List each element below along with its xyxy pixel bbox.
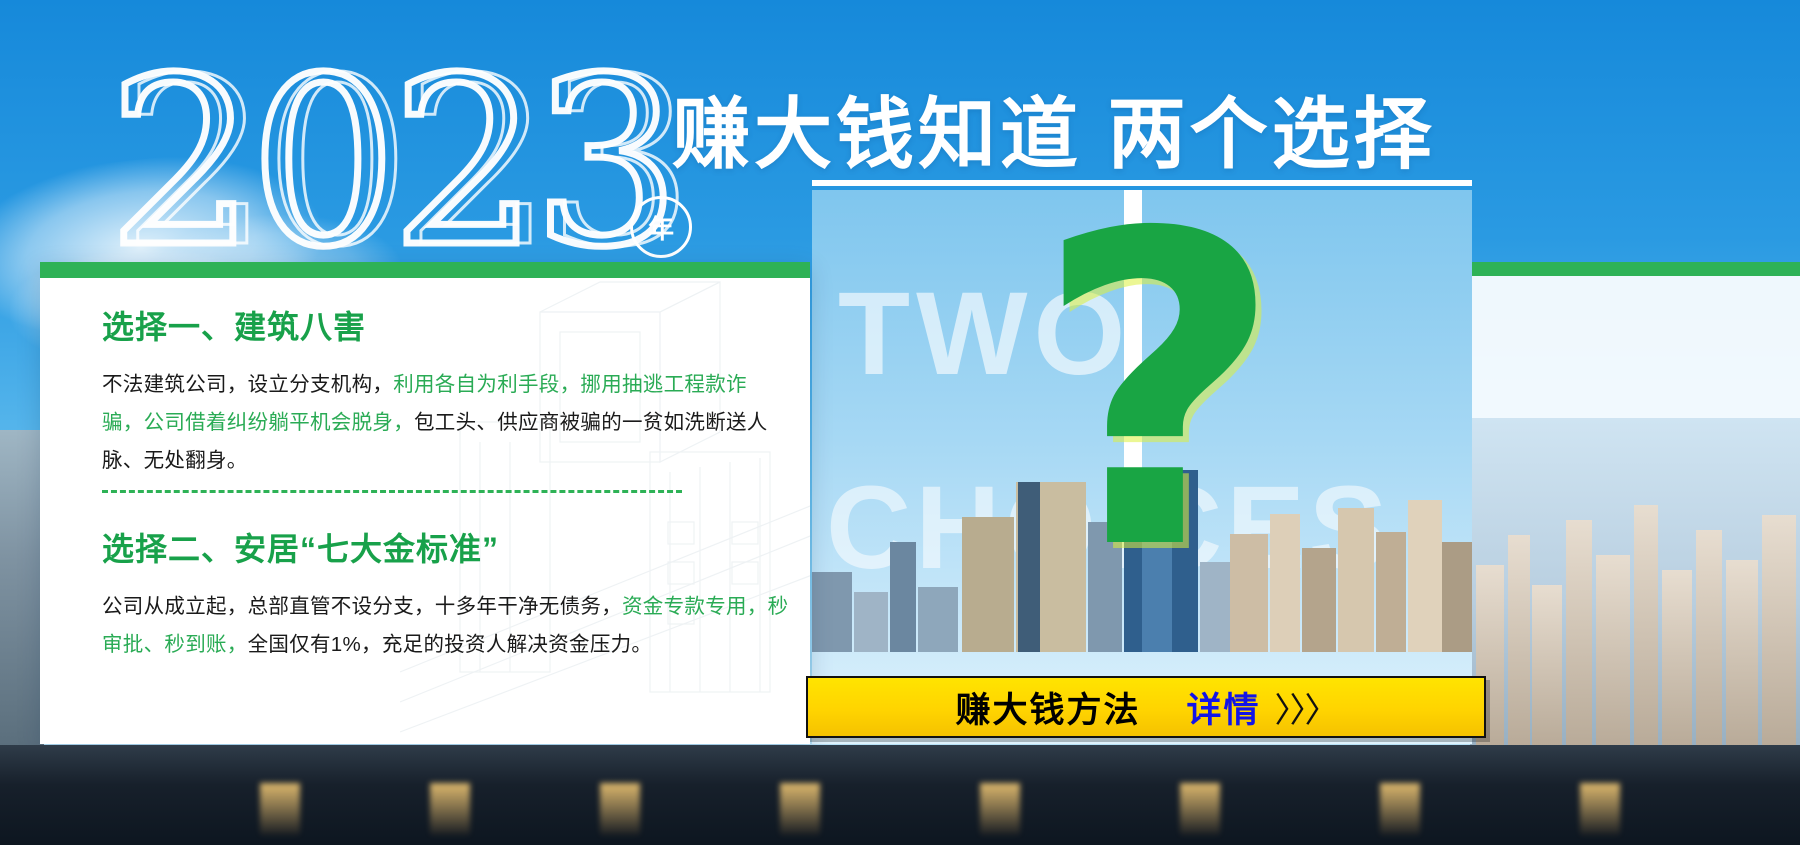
cta-main-label: 赚大钱方法 xyxy=(955,682,1140,733)
text-run: 不法建筑公司，设立分支机构， xyxy=(102,373,393,396)
cta-detail-label: 详情 xyxy=(1187,682,1261,733)
choice-illustration-panel: TWO CHOICES ? xyxy=(812,190,1472,744)
left-bridge-photo xyxy=(0,430,44,745)
section-divider xyxy=(102,490,682,493)
text-run: 全国仅有1%，充足的投资人解决资金压力。 xyxy=(248,633,653,656)
content-card: 选择一、建筑八害 不法建筑公司，设立分支机构，利用各自为利手段，挪用抽逃工程款诈… xyxy=(40,262,810,744)
section-one-title: 选择一、建筑八害 xyxy=(102,302,782,348)
cta-banner[interactable]: 赚大钱方法 详情 〉〉〉 xyxy=(806,676,1486,738)
section-two: 选择二、安居“七大金标准” 公司从成立起，总部直管不设分支，十多年干净无债务，资… xyxy=(102,524,792,664)
right-white-panel xyxy=(1470,276,1800,426)
cta-detail-group[interactable]: 详情 〉〉〉 xyxy=(1187,682,1337,733)
chevron-right-icon: 〉〉〉 xyxy=(1275,683,1337,732)
question-mark-graphic: ? xyxy=(1034,204,1283,584)
right-green-accent xyxy=(1470,262,1800,276)
year-outline: 2023 xyxy=(108,56,688,271)
section-two-title: 选择二、安居“七大金标准” xyxy=(102,524,792,570)
poster-canvas: 2023 2023 年 赚大钱知道 两个选择 TWO CHOICES xyxy=(0,0,1800,845)
text-run: 公司从成立起，总部直管不设分支，十多年干净无债务， xyxy=(102,595,622,618)
year-unit-badge: 年 xyxy=(630,196,692,258)
right-building-photo xyxy=(1470,418,1800,745)
section-two-body: 公司从成立起，总部直管不设分支，十多年干净无债务，资金专款专用，秒审批、秒到账，… xyxy=(102,588,792,664)
page-title: 赚大钱知道 两个选择 xyxy=(672,72,1436,184)
headline-underline xyxy=(812,180,1472,186)
bottom-photo-strip xyxy=(0,745,1800,845)
section-one: 选择一、建筑八害 不法建筑公司，设立分支机构，利用各自为利手段，挪用抽逃工程款诈… xyxy=(102,302,782,480)
section-one-body: 不法建筑公司，设立分支机构，利用各自为利手段，挪用抽逃工程款诈骗，公司借着纠纷躺… xyxy=(102,366,782,480)
